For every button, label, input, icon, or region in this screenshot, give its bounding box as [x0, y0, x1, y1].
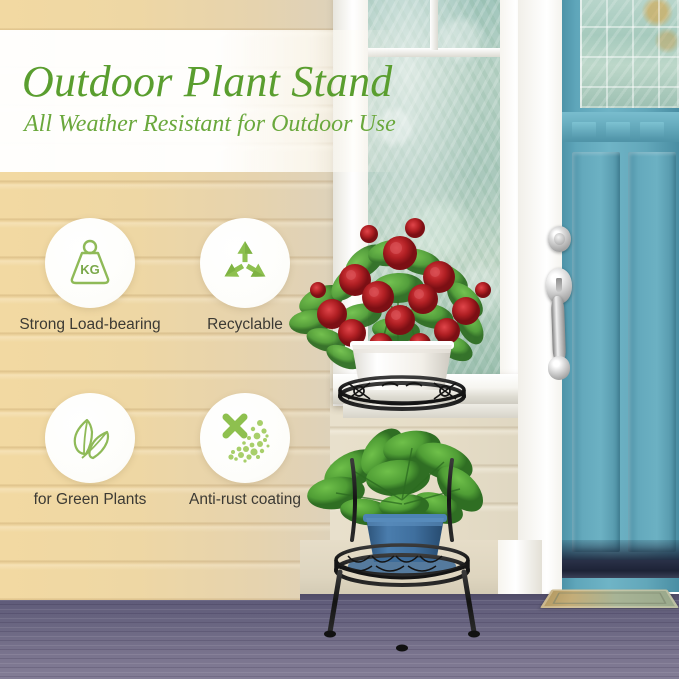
page-title: Outdoor Plant Stand [22, 56, 392, 107]
door-handle-base [548, 356, 570, 380]
door-panel-right [628, 152, 676, 552]
feature-icon-badge [45, 393, 135, 483]
anti-rust-x-particles-icon [216, 409, 274, 467]
weight-unit-text: KG [80, 262, 100, 277]
feature-icon-badge [200, 218, 290, 308]
window-mullion-vertical [430, 0, 438, 50]
page-subtitle: All Weather Resistant for Outdoor Use [24, 111, 396, 138]
wood-deck-floor [0, 600, 679, 679]
feature-label: Recyclable [170, 316, 320, 334]
door-handle-grip [551, 296, 566, 364]
wall-base-trim [498, 540, 542, 602]
feature-label: Anti-rust coating [170, 491, 320, 509]
door-panel-left [572, 152, 620, 552]
thumb-latch-icon [556, 278, 562, 292]
window-sill [333, 374, 541, 404]
feature-label: Strong Load-bearing [15, 316, 165, 334]
door-dentil-block [572, 122, 596, 138]
product-marketing-image: Outdoor Plant Stand All Weather Resistan… [0, 0, 679, 679]
feature-icon-badge [200, 393, 290, 483]
two-leaves-icon [62, 410, 118, 466]
door-leaded-glass [580, 0, 679, 108]
door-threshold [562, 560, 679, 578]
deadbolt-keyhole-icon [554, 233, 565, 245]
weight-kg-icon: KG [62, 235, 118, 291]
window-apron [343, 404, 533, 418]
door-dentil-block [606, 122, 630, 138]
feature-label: for Green Plants [15, 491, 165, 509]
door-dentil-block [640, 122, 664, 138]
x-mark-icon [226, 417, 244, 435]
recycle-icon [218, 236, 272, 290]
feature-icon-badge: KG [45, 218, 135, 308]
